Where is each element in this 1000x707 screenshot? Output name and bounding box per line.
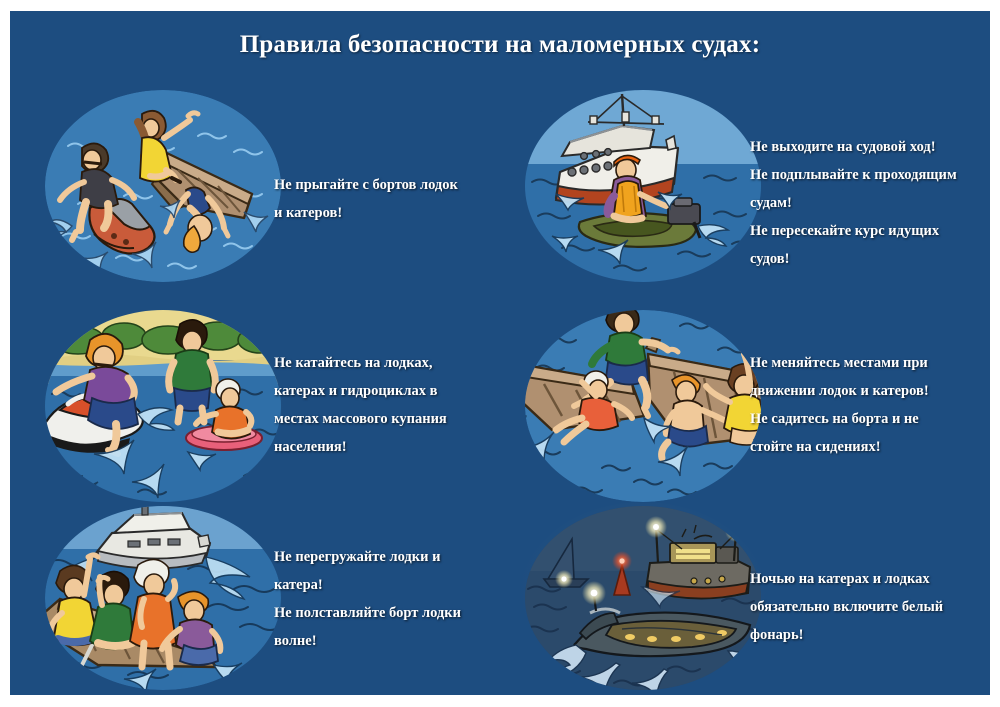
rule-text-night-light: Ночью на катерах и лодках обязательно вк… bbox=[750, 565, 970, 649]
rule-text-overload: Не перегружайте лодки и катера! Не полст… bbox=[274, 543, 494, 655]
scene-fairway bbox=[518, 86, 768, 286]
scene-overload bbox=[38, 503, 288, 693]
illustration-overloaded-rowboat-and-passing-yacht bbox=[38, 503, 288, 693]
rule-text-change-places: Не меняйтесь местами при движении лодок … bbox=[750, 349, 968, 461]
illustration-large-ship-and-inflatable-boat bbox=[518, 86, 768, 286]
illustration-people-jumping-from-boat-and-jetski bbox=[38, 86, 288, 286]
page-title: Правила безопасности на маломерных судах… bbox=[10, 31, 990, 59]
rule-text-jump-overboard: Не прыгайте с бортов лодок и катеров! bbox=[274, 171, 484, 227]
rule-text-swimming-area: Не катайтесь на лодках, катерах и гидроц… bbox=[274, 349, 492, 461]
scene-swimming-area bbox=[38, 306, 288, 506]
illustration-night-vessels-with-lights bbox=[518, 503, 768, 693]
illustration-boy-jumping-between-two-boats bbox=[518, 306, 768, 506]
rule-text-fairway: Не выходите на судовой ход! Не подплывай… bbox=[750, 133, 968, 273]
poster-canvas: Правила безопасности на маломерных судах… bbox=[10, 11, 990, 695]
illustration-jetski-near-swimmers-at-beach bbox=[38, 306, 288, 506]
scene-night bbox=[518, 503, 768, 693]
scene-change-places bbox=[518, 306, 768, 506]
boy-green-seated bbox=[90, 571, 134, 649]
scene-jump-overboard bbox=[38, 86, 288, 286]
